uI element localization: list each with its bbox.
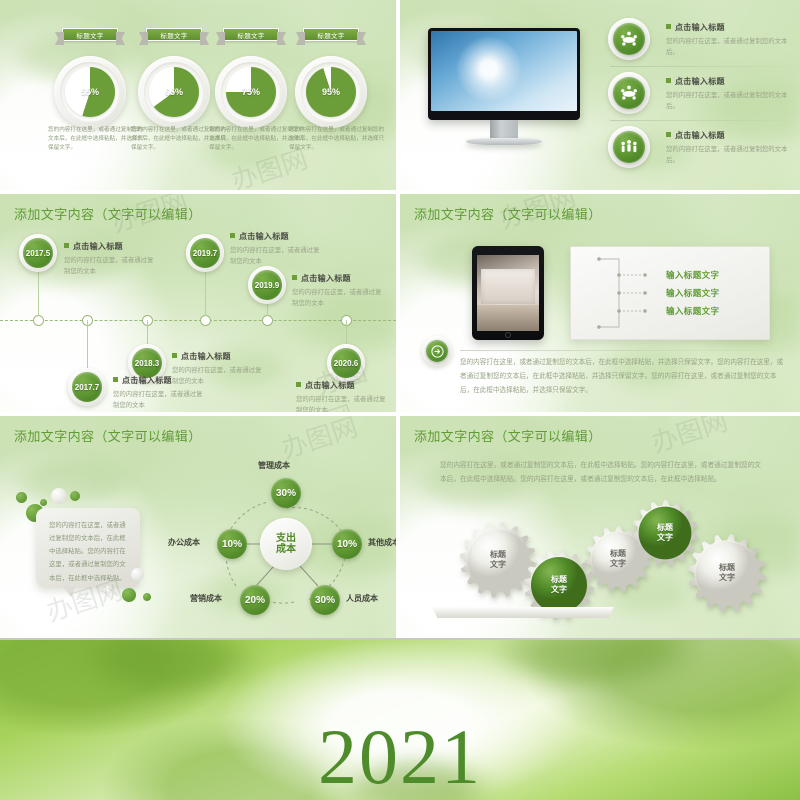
- divider-2: [610, 120, 790, 121]
- icon-badge-3[interactable]: [608, 126, 650, 168]
- icon-badge-1[interactable]: [608, 18, 650, 60]
- timeline-node-5[interactable]: [262, 315, 273, 326]
- timeline-heading: 点击输入标题: [64, 241, 156, 252]
- panel-gauges: 标题文字 标题文字 标题文字 标题文字 55% 65% 75% 95%: [0, 0, 396, 190]
- monitor-item-heading: 点击输入标题: [666, 76, 794, 87]
- bullet-square-icon: [666, 132, 671, 137]
- monitor-wallpaper: [431, 31, 577, 111]
- cost-radial-chart: 30% 10% 30% 20% 10% 支出 成本 管理成本 其他成本 人员成本…: [196, 468, 376, 618]
- gear-label-line1: 标题: [610, 549, 626, 559]
- card-label-2[interactable]: 输入标题文字: [666, 287, 719, 299]
- arrow-right-glyph: [426, 340, 448, 362]
- decor-dot-green-1: [16, 492, 27, 503]
- decor-dot-white-1: [51, 488, 67, 504]
- timeline-stem-2: [87, 320, 88, 368]
- decor-dot-green-6: [143, 593, 151, 601]
- meeting-table-icon: [613, 77, 645, 109]
- panel-title-tablet: 添加文字内容（文字可以编辑）: [414, 204, 602, 223]
- bullet-square-icon: [230, 233, 235, 238]
- gear-label-line1: 标题: [551, 575, 567, 585]
- monitor-stand-neck: [490, 120, 518, 140]
- monitor-item-body: 您的内容打在这里，或者通过复制您的文本后。: [666, 144, 794, 166]
- cost-node-office[interactable]: 10%: [217, 529, 247, 559]
- footer-band: 2021: [0, 640, 800, 800]
- year-title: 2021: [0, 718, 800, 796]
- timeline-text-6: 点击输入标题 您的内容打在这里，或者通过复制您的文本: [296, 380, 388, 412]
- gauge-percent-label: 75%: [226, 67, 276, 117]
- panel-gears: 添加文字内容（文字可以编辑） 您的内容打在这里，或者通过复制您的文本后，在此框中…: [400, 416, 800, 638]
- cost-label-marketing: 营销成本: [190, 593, 222, 604]
- dandelion-graphic: [457, 37, 521, 101]
- gauge-chart-4[interactable]: 95%: [295, 56, 367, 128]
- gear-5[interactable]: 标题文字: [688, 534, 766, 612]
- timeline-bubble-2[interactable]: 2017.7: [68, 368, 106, 406]
- timeline-date-label: 2019.9: [252, 270, 282, 300]
- panel-title-cost: 添加文字内容（文字可以编辑）: [14, 426, 202, 445]
- tablet-screen-photo: [477, 255, 539, 331]
- panel-seam-horizontal-2: [0, 412, 800, 416]
- timeline-axis: [0, 320, 396, 321]
- arrow-right-circle-icon[interactable]: [422, 336, 452, 366]
- timeline-date-label: 2020.6: [331, 348, 361, 378]
- cost-label-personnel: 人员成本: [346, 593, 378, 604]
- divider-1: [610, 66, 790, 67]
- decor-dot-green-5: [122, 588, 136, 602]
- cost-label-other: 其他成本: [368, 537, 396, 548]
- cost-note-bubble: 您的内容打在这里，或者通过复制您的文本后，在此框中选择粘贴。您的内容打在这里，或…: [36, 508, 140, 588]
- timeline-node-4[interactable]: [200, 315, 211, 326]
- timeline-body: 您的内容打在这里，或者通过复制您的文本: [113, 389, 205, 411]
- timeline-heading: 点击输入标题: [292, 273, 384, 284]
- gauge-banner-label-4: 标题文字: [317, 30, 344, 40]
- cost-center-label: 支出 成本: [260, 518, 312, 570]
- cost-label-management: 管理成本: [258, 460, 290, 471]
- tablet-home-button-icon: [505, 332, 511, 338]
- timeline-stem-6: [346, 320, 347, 345]
- gear-label-line1: 标题: [490, 550, 506, 560]
- panel-title-timeline: 添加文字内容（文字可以编辑）: [14, 204, 202, 223]
- timeline-body: 您的内容打在这里，或者通过复制您的文本: [296, 394, 388, 412]
- gauge-chart-2[interactable]: 65%: [138, 56, 210, 128]
- monitor-item-body: 您的内容打在这里，或者通过复制您的文本后。: [666, 36, 794, 58]
- gauge-caption-1: 您的内容打在这里，或者通过复制您的文本后，在此框中选择粘贴，并选择只保留文字。: [48, 126, 144, 154]
- gauge-chart-1[interactable]: 55%: [54, 56, 126, 128]
- decor-dot-white-3: [104, 586, 112, 594]
- meeting-table-icon: [613, 23, 645, 55]
- timeline-heading: 点击输入标题: [230, 231, 322, 242]
- gauge-banner-label-3: 标题文字: [237, 30, 264, 40]
- gauge-banner-4[interactable]: 标题文字: [303, 28, 359, 41]
- group-people-icon: [613, 131, 645, 163]
- gauge-banner-1[interactable]: 标题文字: [62, 28, 118, 41]
- panel-tablet: 添加文字内容（文字可以编辑） 输入标题文字 输入标题文字 输入标题文字 您: [400, 194, 800, 412]
- decor-dot-green-3: [70, 491, 80, 501]
- monitor-item-1: 点击输入标题 您的内容打在这里，或者通过复制您的文本后。: [666, 22, 794, 58]
- cost-node-personnel[interactable]: 30%: [310, 585, 340, 615]
- monitor-stand-base: [466, 138, 542, 145]
- timeline-text-4: 点击输入标题 您的内容打在这里，或者通过复制您的文本: [230, 231, 322, 267]
- cost-label-office: 办公成本: [168, 537, 200, 548]
- timeline-date-label: 2017.5: [23, 238, 53, 268]
- monitor-item-body: 您的内容打在这里，或者通过复制您的文本后。: [666, 90, 794, 112]
- diagram-card: 输入标题文字 输入标题文字 输入标题文字: [570, 246, 770, 340]
- gear-label-line1: 标题: [657, 523, 673, 533]
- timeline-date-label: 2019.7: [190, 238, 220, 268]
- timeline-date-label: 2018.3: [132, 348, 162, 378]
- gauge-percent-label: 65%: [149, 67, 199, 117]
- gauge-banner-3[interactable]: 标题文字: [223, 28, 279, 41]
- gauge-banner-label-1: 标题文字: [76, 30, 103, 40]
- timeline-body: 您的内容打在这里，或者通过复制您的文本: [172, 365, 264, 387]
- gauge-banner-label-2: 标题文字: [160, 30, 187, 40]
- bullet-square-icon: [64, 243, 69, 248]
- card-label-1[interactable]: 输入标题文字: [666, 269, 719, 281]
- panel-seam-vertical: [396, 0, 400, 640]
- panel-timeline: 添加文字内容（文字可以编辑） 2017.5 2017.7 2018.3: [0, 194, 396, 412]
- gear-label-line2: 文字: [657, 533, 673, 543]
- bullet-square-icon: [666, 78, 671, 83]
- panel-seam-horizontal-1: [0, 190, 800, 194]
- timeline-heading: 点击输入标题: [172, 351, 264, 362]
- gear-label-line2: 文字: [490, 560, 506, 570]
- timeline-date-label: 2017.7: [72, 372, 102, 402]
- card-label-3[interactable]: 输入标题文字: [666, 305, 719, 317]
- panel-cost: 添加文字内容（文字可以编辑） 您的内容打在这里，或者通过复制您的文本后，在此框中…: [0, 416, 396, 638]
- tablet-illustration: [472, 246, 544, 340]
- timeline-bubble-5[interactable]: 2019.9: [248, 266, 286, 304]
- timeline-text-5: 点击输入标题 您的内容打在这里，或者通过复制您的文本: [292, 273, 384, 309]
- tablet-body-text: 您的内容打在这里，或者通过复制您的文本后，在此框中选择粘贴，并选择只保留文字。您…: [460, 356, 788, 398]
- timeline-text-3: 点击输入标题 您的内容打在这里，或者通过复制您的文本: [172, 351, 264, 387]
- timeline-body: 您的内容打在这里，或者通过复制您的文本: [64, 255, 156, 277]
- monitor-item-3: 点击输入标题 您的内容打在这里，或者通过复制您的文本后。: [666, 130, 794, 166]
- monitor-item-heading: 点击输入标题: [666, 22, 794, 33]
- timeline-stem-3: [147, 320, 148, 345]
- center-line-1: 支出: [276, 533, 296, 545]
- cost-node-other[interactable]: 10%: [332, 529, 362, 559]
- gauge-chart-3[interactable]: 75%: [215, 56, 287, 128]
- cost-note-text: 您的内容打在这里，或者通过复制您的文本后，在此框中选择粘贴。您的内容打在这里，或…: [36, 508, 140, 596]
- icon-badge-2[interactable]: [608, 72, 650, 114]
- bullet-square-icon: [666, 24, 671, 29]
- timeline-text-1: 点击输入标题 您的内容打在这里，或者通过复制您的文本: [64, 241, 156, 277]
- decor-dot-green-2: [40, 499, 47, 506]
- bullet-square-icon: [292, 275, 297, 280]
- center-line-2: 成本: [276, 544, 296, 556]
- gauge-caption-4: 您的内容打在这里，或者通过复制您的文本后，在此框中选择粘贴，并选择只保留文字。: [289, 126, 385, 154]
- decor-dot-white-2: [131, 568, 144, 581]
- monitor-screen: [428, 28, 580, 120]
- bullet-square-icon: [296, 382, 301, 387]
- gear-label-line2: 文字: [719, 573, 735, 583]
- gear-base-plate: [432, 607, 614, 618]
- gear-label-line2: 文字: [551, 585, 567, 595]
- divider-tablet: [460, 350, 782, 351]
- timeline-node-1[interactable]: [33, 315, 44, 326]
- gauge-banner-2[interactable]: 标题文字: [146, 28, 202, 41]
- panel-monitor: 点击输入标题 您的内容打在这里，或者通过复制您的文本后。 点击输入标题 您的内容…: [400, 0, 800, 190]
- monitor-item-2: 点击输入标题 您的内容打在这里，或者通过复制您的文本后。: [666, 76, 794, 112]
- gear-label-line1: 标题: [719, 563, 735, 573]
- cost-node-management[interactable]: 30%: [271, 478, 301, 508]
- gear-label-line2: 文字: [610, 559, 626, 569]
- timeline-body: 您的内容打在这里，或者通过复制您的文本: [230, 245, 322, 267]
- timeline-bubble-4[interactable]: 2019.7: [186, 234, 224, 272]
- timeline-bubble-1[interactable]: 2017.5: [19, 234, 57, 272]
- gauge-percent-label: 95%: [306, 67, 356, 117]
- cost-node-marketing[interactable]: 20%: [240, 585, 270, 615]
- timeline-heading: 点击输入标题: [296, 380, 388, 391]
- bullet-square-icon: [113, 377, 118, 382]
- gauge-percent-label: 55%: [65, 67, 115, 117]
- timeline-stem-1: [38, 269, 39, 316]
- timeline-body: 您的内容打在这里，或者通过复制您的文本: [292, 287, 384, 309]
- monitor-item-heading: 点击输入标题: [666, 130, 794, 141]
- timeline-bubble-6[interactable]: 2020.6: [327, 344, 365, 382]
- bullet-square-icon: [172, 353, 177, 358]
- slide-collage: 标题文字 标题文字 标题文字 标题文字 55% 65% 75% 95%: [0, 0, 800, 800]
